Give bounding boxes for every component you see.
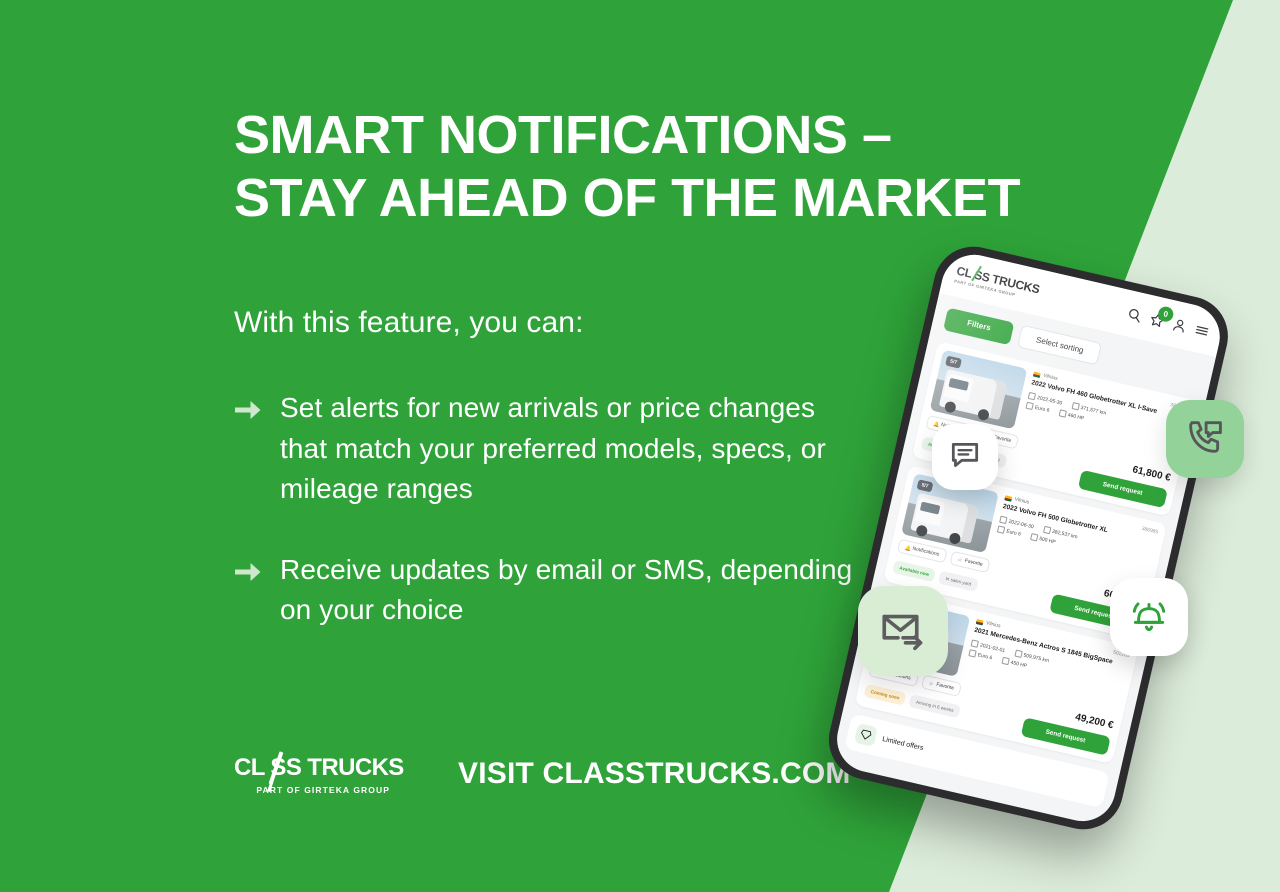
listing-location: Vilnius <box>1014 497 1030 506</box>
spec-euro-value: Euro 6 <box>1034 405 1050 414</box>
favorite-label: Favorite <box>964 558 983 568</box>
photo-count-badge: 5/7 <box>945 356 962 369</box>
page-title: SMART NOTIFICATIONS – STAY AHEAD OF THE … <box>234 104 1034 229</box>
emission-icon <box>997 526 1005 534</box>
phone-screen: CL SS TRUCKS PART OF GIRTEKA GROUP 0 <box>831 248 1227 827</box>
phone-body: CL SS TRUCKS PART OF GIRTEKA GROUP 0 <box>821 239 1236 838</box>
sms-tile[interactable] <box>932 424 998 490</box>
sort-select[interactable]: Select sorting <box>1017 325 1103 366</box>
email-send-tile[interactable] <box>858 586 948 676</box>
bullet-text: Set alerts for new arrivals or price cha… <box>280 388 854 510</box>
power-icon <box>1001 657 1009 665</box>
spec-euro-value: Euro 6 <box>1006 528 1022 537</box>
brand-logo: CL SS TRUCKS PART OF GIRTEKA GROUP <box>234 756 390 798</box>
headline-line-2: STAY AHEAD OF THE MARKET <box>234 167 1034 230</box>
flag-icon <box>1033 371 1041 377</box>
odometer-icon <box>1014 650 1022 658</box>
menu-icon[interactable] <box>1193 321 1211 339</box>
phone-message-icon <box>1183 415 1227 464</box>
bullet-text: Receive updates by email or SMS, dependi… <box>280 550 854 631</box>
chat-bubble-icon <box>948 438 982 477</box>
favorite-label: Favorite <box>936 682 955 692</box>
account-icon[interactable] <box>1171 316 1189 334</box>
list-item: Set alerts for new arrivals or price cha… <box>234 388 854 510</box>
flag-icon <box>1004 495 1012 501</box>
listing-location: Vilnius <box>985 620 1001 629</box>
notification-bell-tile[interactable] <box>1110 578 1188 656</box>
listing-list: 5/7 Vilnius 386985 2022 Volvo FH 460 Glo… <box>845 339 1206 766</box>
listing-price: 49,200 € <box>1074 711 1114 730</box>
calendar-icon <box>999 516 1007 524</box>
star-icon: ☆ <box>957 557 963 563</box>
poster-canvas: SMART NOTIFICATIONS – STAY AHEAD OF THE … <box>0 0 1280 892</box>
header-spacer <box>1047 294 1120 311</box>
spec-power-value: 500 HP <box>1039 536 1057 546</box>
power-icon <box>1058 410 1066 418</box>
listing-price: 61,800 € <box>1131 464 1171 483</box>
power-icon <box>1030 533 1038 541</box>
odometer-icon <box>1042 526 1050 534</box>
bell-icon: 🔔 <box>905 545 911 551</box>
search-icon[interactable] <box>1126 306 1144 324</box>
app-logo[interactable]: CL SS TRUCKS PART OF GIRTEKA GROUP <box>954 264 1041 303</box>
listing-location: Vilnius <box>1043 373 1059 382</box>
calendar-icon <box>970 640 978 648</box>
listing-id: 386985 <box>1141 526 1159 536</box>
listing-thumbnail[interactable]: 5/7 <box>930 350 1028 430</box>
favorite-button[interactable]: ☆Favorite <box>949 551 991 574</box>
spec-euro: Euro 6 <box>1025 402 1050 414</box>
lead-text: With this feature, you can: <box>234 306 584 340</box>
spec-power-value: 460 HP <box>1067 412 1085 422</box>
notifications-label: Notifications <box>912 546 940 558</box>
bullet-list: Set alerts for new arrivals or price cha… <box>234 388 854 671</box>
emission-icon <box>1025 402 1033 410</box>
logo-wordmark: CL SS TRUCKS <box>234 756 390 780</box>
alarm-bell-icon <box>1128 594 1170 641</box>
star-icon: ☆ <box>928 680 934 686</box>
status-badge: Available now <box>892 560 936 583</box>
status-badge: Coming soon <box>863 683 906 706</box>
spec-euro-value: Euro 6 <box>977 652 993 661</box>
spec-euro: Euro 6 <box>997 526 1022 538</box>
emission-icon <box>968 650 976 658</box>
limited-offers-label: Limited offers <box>882 735 924 751</box>
headline-line-1: SMART NOTIFICATIONS – <box>234 105 892 165</box>
status-badge: Arriving in 6 weeks <box>909 694 961 719</box>
arrow-right-icon <box>234 550 264 589</box>
list-item: Receive updates by email or SMS, dependi… <box>234 550 854 631</box>
odometer-icon <box>1071 402 1079 410</box>
gem-icon <box>854 723 878 747</box>
phone-message-tile[interactable] <box>1166 400 1244 478</box>
star-icon[interactable]: 0 <box>1148 311 1166 329</box>
flag-icon <box>976 618 984 624</box>
arrow-right-icon <box>234 388 264 427</box>
bell-icon: 🔔 <box>933 421 939 427</box>
calendar-icon <box>1028 392 1036 400</box>
envelope-arrow-icon <box>878 604 928 659</box>
logo-tagline: PART OF GIRTEKA GROUP <box>234 785 390 795</box>
filters-button[interactable]: Filters <box>943 308 1014 346</box>
photo-count-badge: 5/7 <box>917 479 934 492</box>
favorite-button[interactable]: ☆Favorite <box>921 674 963 697</box>
spec-power-value: 450 HP <box>1010 660 1028 670</box>
spec-euro: Euro 6 <box>968 650 993 662</box>
status-badge: In sales yard <box>938 570 978 592</box>
